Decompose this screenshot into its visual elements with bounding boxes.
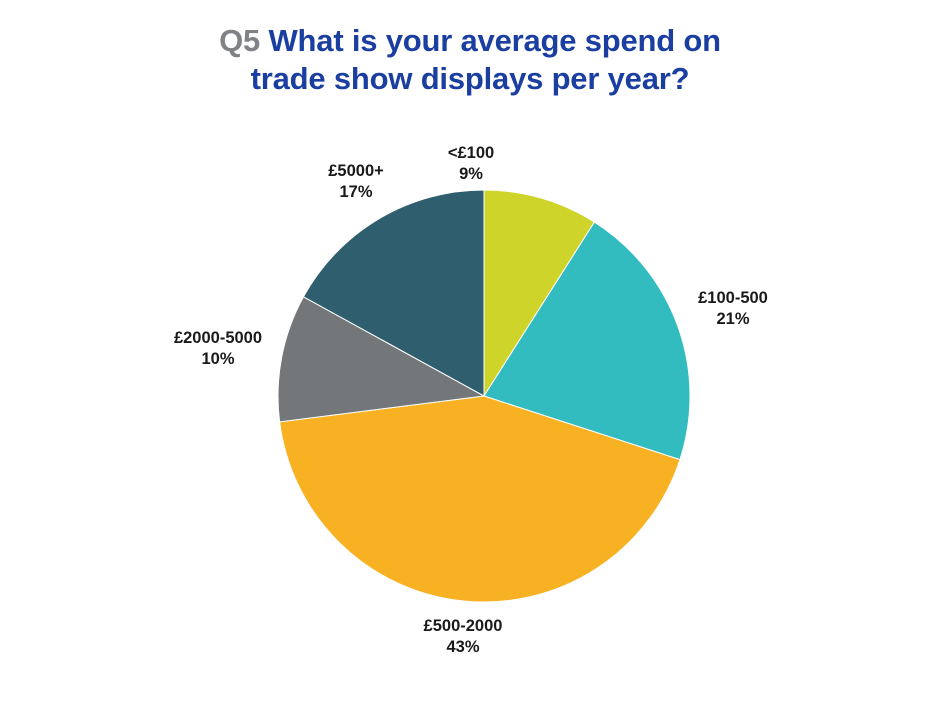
pie-label-value: 21% — [698, 309, 768, 330]
pie-label-5000-plus: £5000+ 17% — [328, 161, 384, 203]
pie-label-category: £5000+ — [328, 161, 384, 182]
pie-label-500-2000: £500-2000 43% — [424, 616, 503, 658]
pie-chart-svg — [0, 0, 940, 705]
pie-label-value: 10% — [174, 349, 262, 370]
pie-label-value: 43% — [424, 637, 503, 658]
pie-label-value: 17% — [328, 182, 384, 203]
pie-chart: <£100 9% £100-500 21% £500-2000 43% £200… — [0, 0, 940, 705]
pie-slice-group — [278, 190, 690, 602]
pie-label-100-500: £100-500 21% — [698, 288, 768, 330]
pie-label-lt-100: <£100 9% — [448, 143, 494, 185]
pie-label-category: £2000-5000 — [174, 328, 262, 349]
slide-canvas: Q5 What is your average spend on trade s… — [0, 0, 940, 705]
pie-label-category: £100-500 — [698, 288, 768, 309]
pie-label-value: 9% — [448, 164, 494, 185]
pie-label-2000-5000: £2000-5000 10% — [174, 328, 262, 370]
pie-label-category: £500-2000 — [424, 616, 503, 637]
pie-label-category: <£100 — [448, 143, 494, 164]
